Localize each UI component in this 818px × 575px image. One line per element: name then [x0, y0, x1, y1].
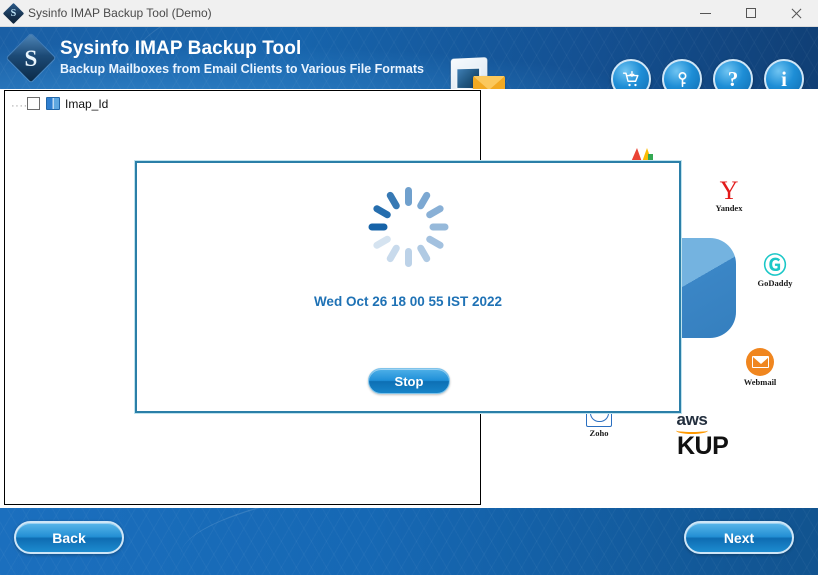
back-button[interactable]: Back	[14, 521, 124, 554]
gmail-icon	[631, 148, 653, 162]
close-icon	[790, 8, 801, 19]
logo-yandex: Y Yandex	[703, 180, 755, 213]
loading-spinner-icon	[366, 185, 450, 269]
cart-icon[interactable]	[611, 59, 651, 89]
aws-icon: aws	[666, 412, 718, 427]
next-button[interactable]: Next	[684, 521, 794, 554]
tree-connector-icon: ····	[11, 101, 27, 112]
app-icon: S	[0, 0, 26, 27]
brand-logo: S	[10, 37, 52, 79]
logo-godaddy: Ⓖ GoDaddy	[746, 255, 804, 288]
spinner-dot	[369, 224, 388, 231]
footer-swoosh-decoration	[176, 508, 703, 575]
promo-shape-decoration	[680, 238, 736, 338]
app-icon-letter: S	[10, 8, 16, 18]
logo-caption-webmail: Webmail	[734, 377, 786, 387]
brand-logo-letter: S	[25, 46, 38, 69]
minimize-icon	[700, 13, 711, 14]
info-icon[interactable]: i	[764, 59, 804, 89]
spinner-dot	[372, 234, 392, 250]
spinner-dot	[425, 204, 445, 220]
key-icon[interactable]	[662, 59, 702, 89]
minimize-button[interactable]	[683, 0, 728, 27]
spinner-dot	[372, 204, 392, 220]
spinner-dot	[385, 191, 401, 211]
close-button[interactable]	[773, 0, 818, 27]
spinner-dot	[416, 191, 432, 211]
info-icon-glyph: i	[781, 69, 787, 90]
tree-item-imap-id[interactable]: ···· Imap_Id	[11, 94, 480, 113]
spinner-dot	[425, 234, 445, 250]
logo-caption-godaddy: GoDaddy	[746, 278, 804, 288]
title-bar: S Sysinfo IMAP Backup Tool (Demo)	[0, 0, 818, 27]
header-title: Sysinfo IMAP Backup Tool	[60, 37, 424, 61]
window-title: Sysinfo IMAP Backup Tool (Demo)	[28, 6, 212, 20]
spinner-dot	[416, 243, 432, 263]
maximize-icon	[746, 8, 756, 18]
header-subtitle: Backup Mailboxes from Email Clients to V…	[60, 61, 424, 78]
tree-item-label: Imap_Id	[65, 97, 108, 111]
window-controls	[683, 0, 818, 27]
spinner-dot	[405, 248, 412, 267]
stop-button[interactable]: Stop	[368, 368, 450, 394]
logo-caption-yandex: Yandex	[703, 203, 755, 213]
maximize-button[interactable]	[728, 0, 773, 27]
app-header: S Sysinfo IMAP Backup Tool Backup Mailbo…	[0, 27, 818, 89]
logo-aws: aws	[666, 412, 718, 434]
spinner-dot	[405, 187, 412, 206]
help-icon[interactable]: ?	[713, 59, 753, 89]
header-text-block: Sysinfo IMAP Backup Tool Backup Mailboxe…	[60, 37, 424, 78]
envelope-icon	[473, 76, 505, 89]
header-action-icons: ? i	[611, 59, 804, 89]
help-icon-glyph: ?	[728, 69, 739, 90]
webmail-icon	[746, 348, 774, 376]
spinner-dot	[430, 224, 449, 231]
folder-icon	[46, 97, 60, 110]
logo-caption-zoho: Zoho	[573, 428, 625, 438]
godaddy-icon: Ⓖ	[746, 255, 804, 277]
application-window: S Sysinfo IMAP Backup Tool (Demo) S Sysi…	[0, 0, 818, 575]
imap-product-icon: IMAP	[450, 58, 510, 89]
tree-item-checkbox[interactable]	[27, 97, 40, 110]
progress-status-text: Wed Oct 26 18 00 55 IST 2022	[137, 294, 679, 309]
logo-webmail: Webmail	[734, 348, 786, 387]
promo-word: KUP	[677, 432, 728, 461]
yandex-icon: Y	[703, 180, 755, 202]
spinner-dot	[385, 243, 401, 263]
